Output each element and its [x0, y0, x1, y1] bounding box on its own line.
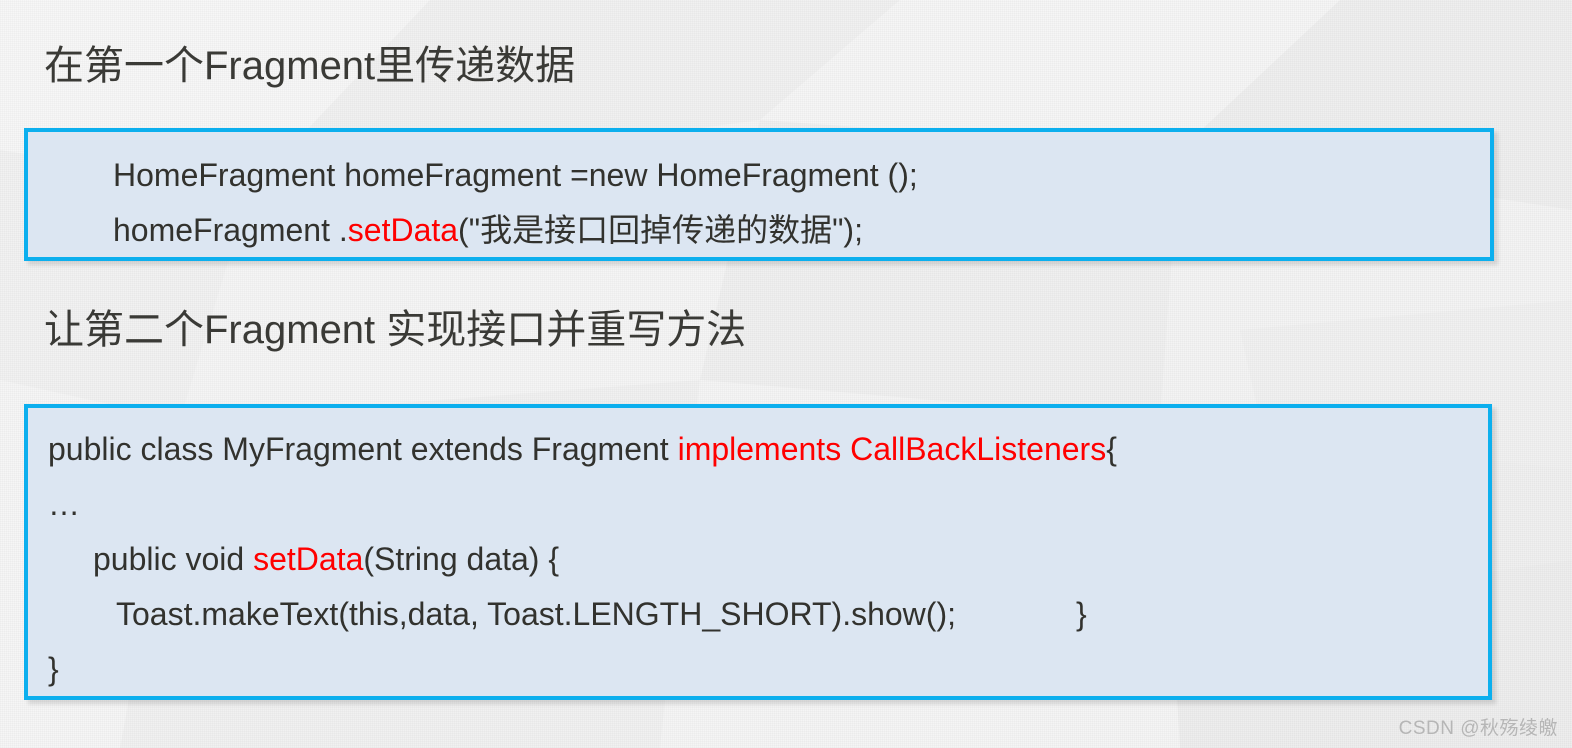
csdn-watermark: CSDN @秋殇绫皦 [1399, 713, 1558, 740]
code-highlight: setData [348, 212, 458, 248]
code-line: HomeFragment homeFragment =new HomeFragm… [28, 148, 1490, 203]
code-text: . [339, 212, 348, 248]
code-closing-brace: } [956, 596, 1087, 632]
code-block-send-data: HomeFragment homeFragment =new HomeFragm… [24, 128, 1494, 261]
code-text: public void [93, 541, 253, 577]
heading-second-fragment: 让第二个Fragment 实现接口并重写方法 [44, 308, 746, 352]
code-line: … [28, 477, 1488, 532]
code-text: homeFragment [113, 212, 339, 248]
code-ellipsis: … [48, 486, 80, 522]
code-line: homeFragment .setData("我是接口回掉传递的数据"); [28, 203, 1490, 258]
code-line: } [28, 642, 1488, 697]
code-text: { [1106, 431, 1117, 467]
code-highlight: setData [253, 541, 363, 577]
code-text: public class MyFragment extends Fragment [48, 431, 678, 467]
code-line: public void setData(String data) { [28, 532, 1488, 587]
code-block-implement-interface: public class MyFragment extends Fragment… [24, 404, 1492, 700]
code-text: ("我是接口回掉传递的数据"); [458, 212, 863, 248]
code-closing-brace: } [48, 651, 59, 687]
slide-content: 在第一个Fragment里传递数据 HomeFragment homeFragm… [0, 0, 1572, 748]
slide: 在第一个Fragment里传递数据 HomeFragment homeFragm… [0, 0, 1572, 748]
code-line: public class MyFragment extends Fragment… [28, 422, 1488, 477]
code-highlight: implements CallBackListeners [678, 431, 1107, 467]
code-text: HomeFragment homeFragment =new HomeFragm… [113, 157, 918, 193]
heading-first-fragment: 在第一个Fragment里传递数据 [44, 44, 575, 88]
code-text: Toast.makeText(this,data, Toast.LENGTH_S… [116, 596, 956, 632]
code-text: (String data) { [363, 541, 559, 577]
code-line: Toast.makeText(this,data, Toast.LENGTH_S… [28, 587, 1488, 642]
